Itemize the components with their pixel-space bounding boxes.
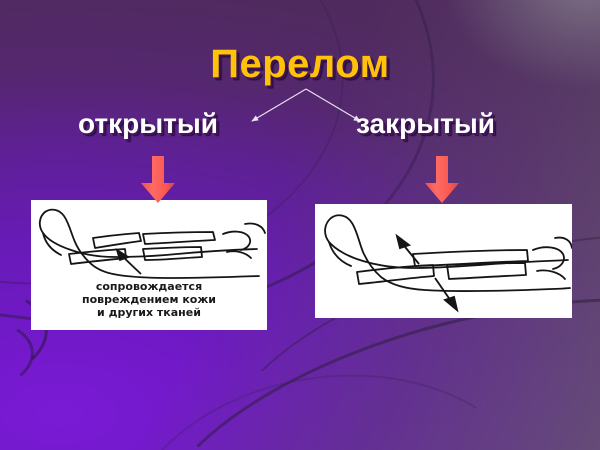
fracture-pointer-arrow-upper (397, 236, 419, 264)
slide: Перелом открытый закрытый (0, 0, 600, 450)
caption-line-2: повреждением кожи (82, 293, 216, 306)
red-down-arrow-right (422, 156, 462, 204)
fracture-pointer-arrow (117, 250, 141, 274)
illustration-caption: сопровождается повреждением кожи и други… (82, 280, 216, 319)
page-title: Перелом (0, 42, 600, 87)
caption-line-3: и других тканей (97, 306, 201, 319)
closed-fracture-leg-drawing (315, 204, 572, 318)
branch-label-open: открытый (78, 108, 218, 140)
branch-label-closed: закрытый (356, 108, 495, 140)
caption-line-1: сопровождается (96, 280, 202, 293)
red-down-arrow-left (138, 156, 178, 204)
closed-fracture-illustration-panel (315, 204, 572, 318)
open-fracture-illustration-panel: сопровождается повреждением кожи и други… (31, 200, 267, 330)
open-fracture-leg-drawing: сопровождается повреждением кожи и други… (31, 200, 267, 330)
fracture-pointer-arrow-lower (435, 278, 457, 310)
